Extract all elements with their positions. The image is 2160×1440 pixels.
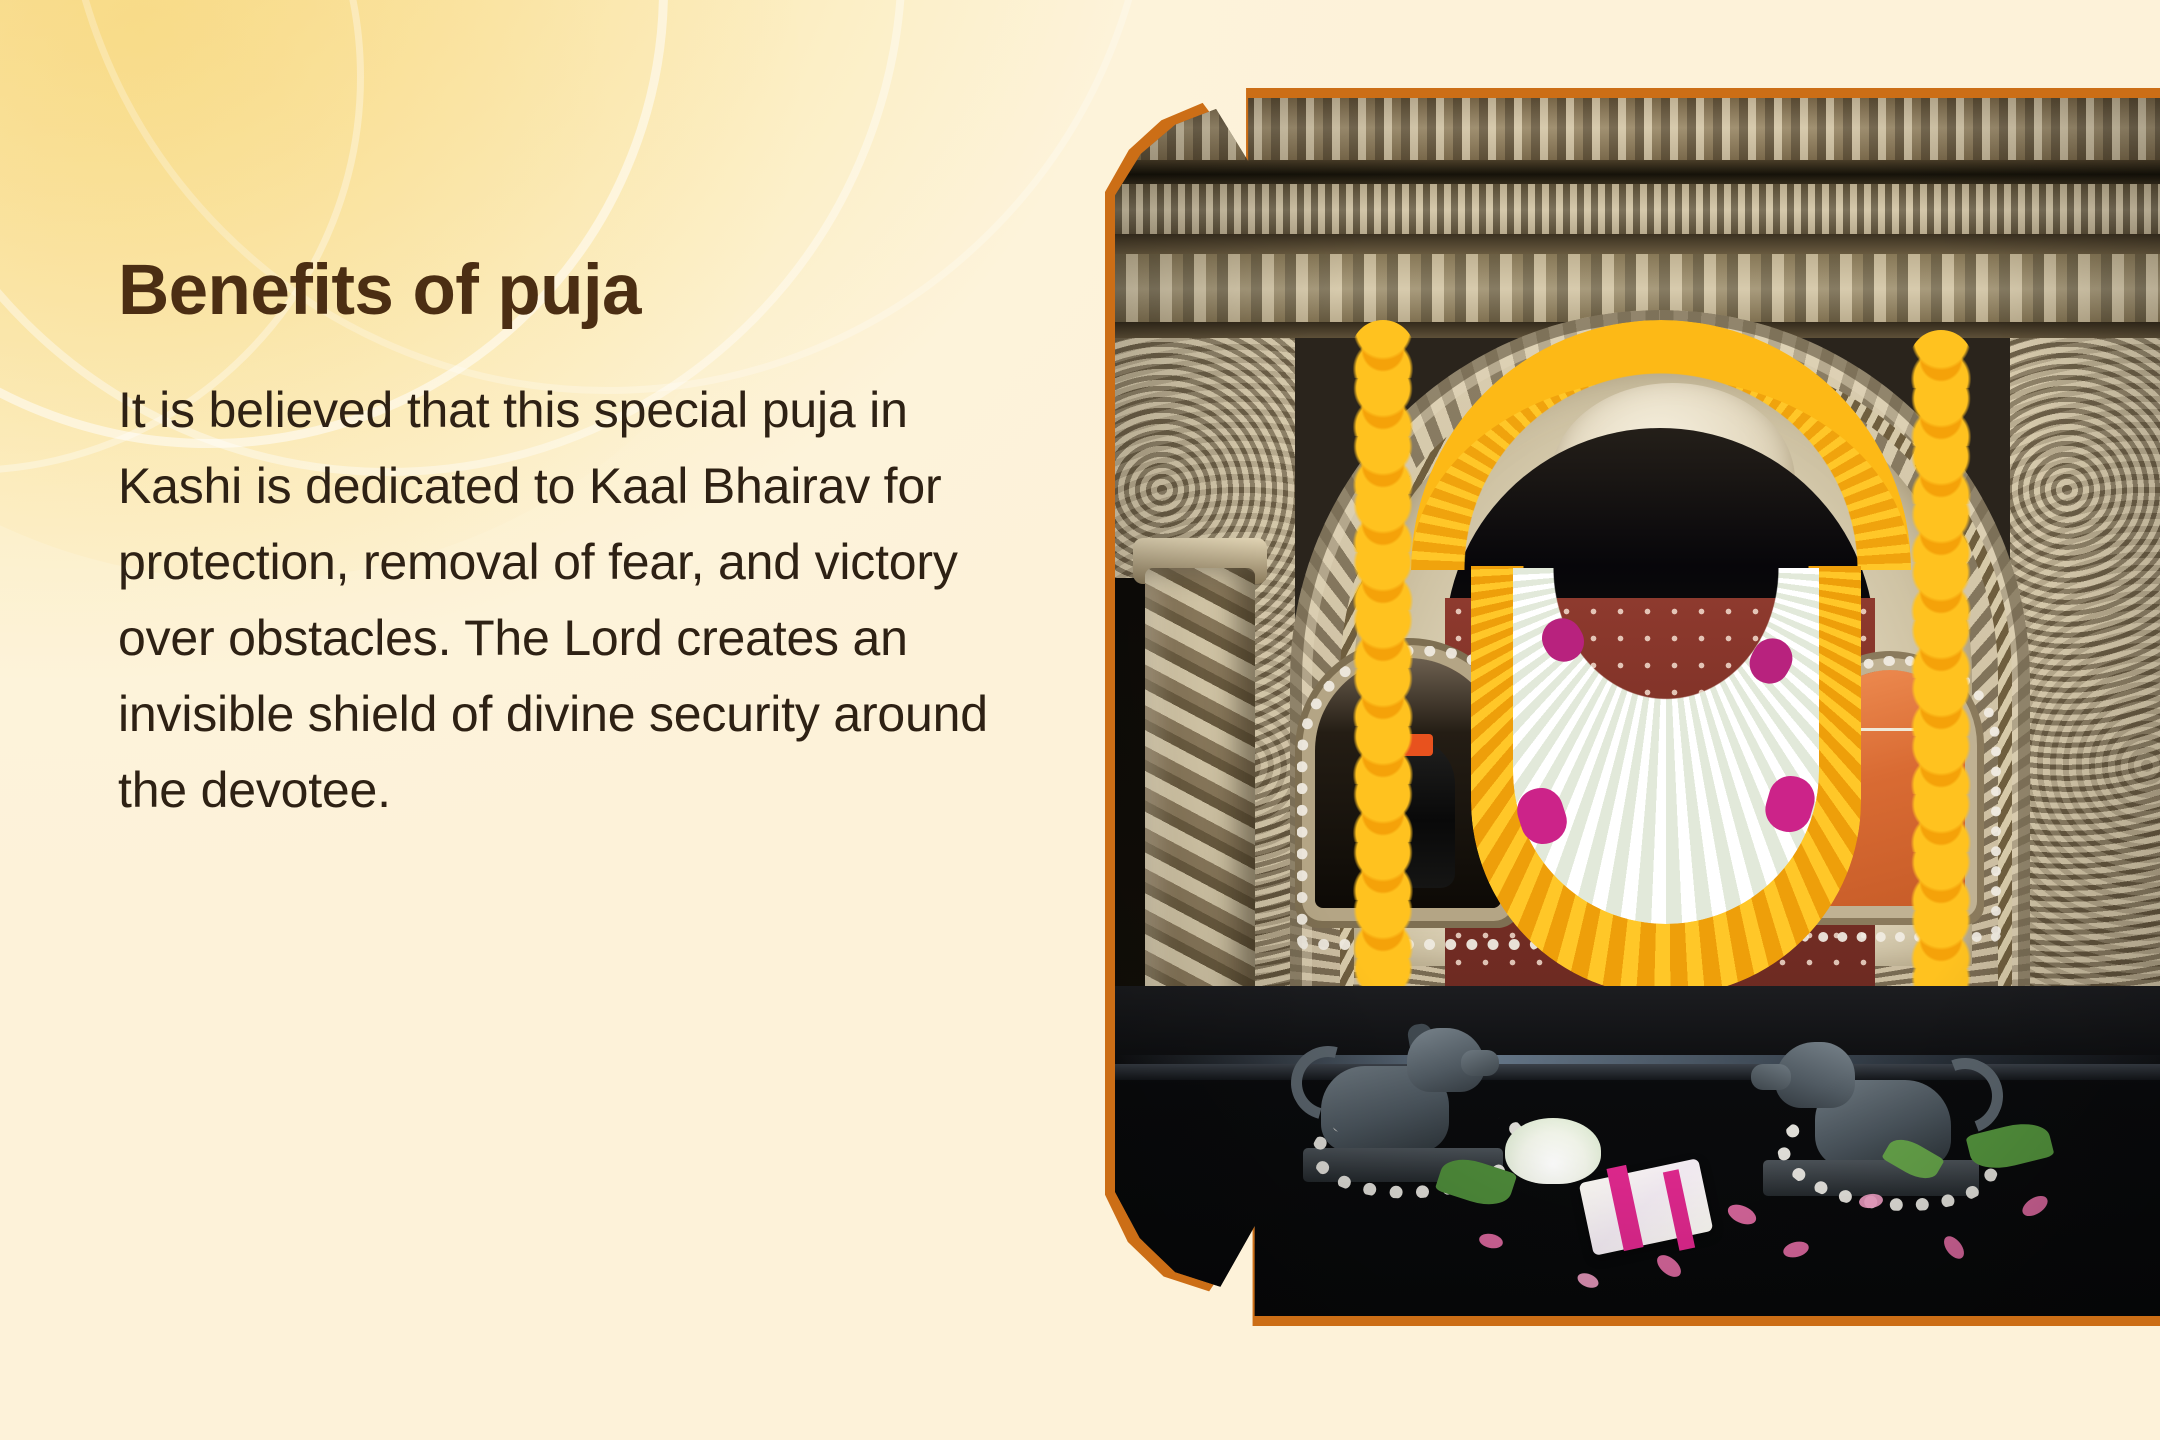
shrine-photo [1115,98,2160,1316]
shrine-photo-frame [1105,88,2160,1326]
body-paragraph: It is believed that this special puja in… [118,372,1038,828]
text-column: Benefits of puja It is believed that thi… [118,253,1038,828]
poster-canvas: Benefits of puja It is believed that thi… [0,0,2160,1440]
page-title: Benefits of puja [118,253,1038,328]
photo-vignette [1115,98,2160,1316]
